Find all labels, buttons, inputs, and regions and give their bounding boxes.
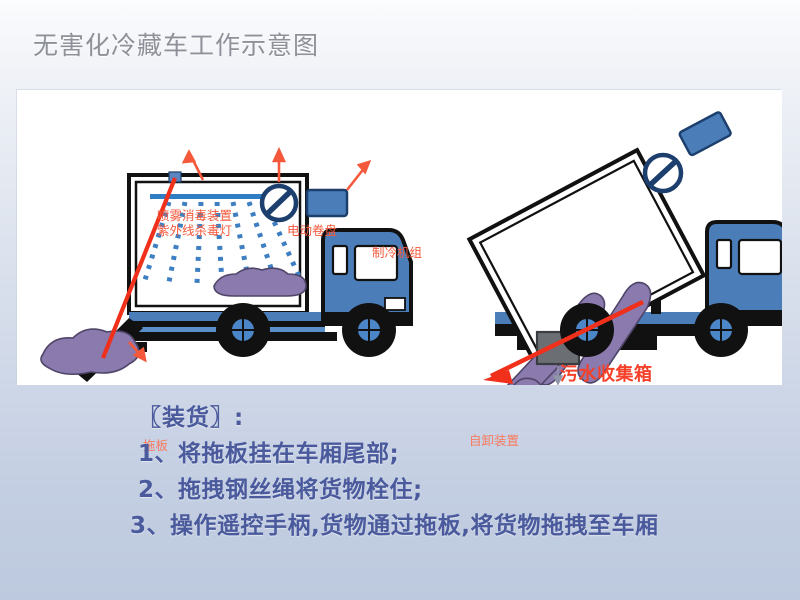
- diagram-canvas: 喷雾消毒装置 紫外线杀毒灯 电动卷盘 制冷机组 拖板 自卸装置: [17, 90, 782, 385]
- loading-instructions: 〖装货〗: 1、将拖板挂在车厢尾部; 2、拖拽钢丝绳将货物栓住; 3、操作遥控手…: [138, 400, 798, 544]
- instruction-step-1: 1、将拖板挂在车厢尾部;: [138, 436, 798, 472]
- instruction-step-3: 3、操作遥控手柄,货物通过拖板,将货物拖拽至车厢: [130, 508, 798, 544]
- electric-reel-icon-right: [645, 155, 681, 191]
- label-spray-disinfection-device: 喷雾消毒装置 紫外线杀毒灯: [157, 208, 232, 238]
- instructions-heading: 〖装货〗:: [138, 400, 798, 436]
- page-title: 无害化冷藏车工作示意图: [33, 26, 319, 62]
- instruction-step-2: 2、拖拽钢丝绳将货物栓住;: [138, 472, 798, 508]
- diagram-panel: 喷雾消毒装置 紫外线杀毒灯 电动卷盘 制冷机组 拖板 自卸装置: [17, 90, 782, 385]
- truck-schematic-illustration: [17, 90, 782, 385]
- unloading-truck-group: [469, 111, 782, 385]
- label-sewage-collection-box: 污水收集箱: [560, 367, 653, 382]
- label-refrigeration-unit: 制冷机组: [372, 245, 422, 260]
- loading-truck-group: [41, 150, 411, 382]
- label-spray-line2: 紫外线杀毒灯: [157, 223, 232, 238]
- label-spray-line1: 喷雾消毒装置: [157, 208, 232, 223]
- electric-reel-icon: [262, 186, 296, 220]
- label-electric-reel: 电动卷盘: [287, 223, 337, 238]
